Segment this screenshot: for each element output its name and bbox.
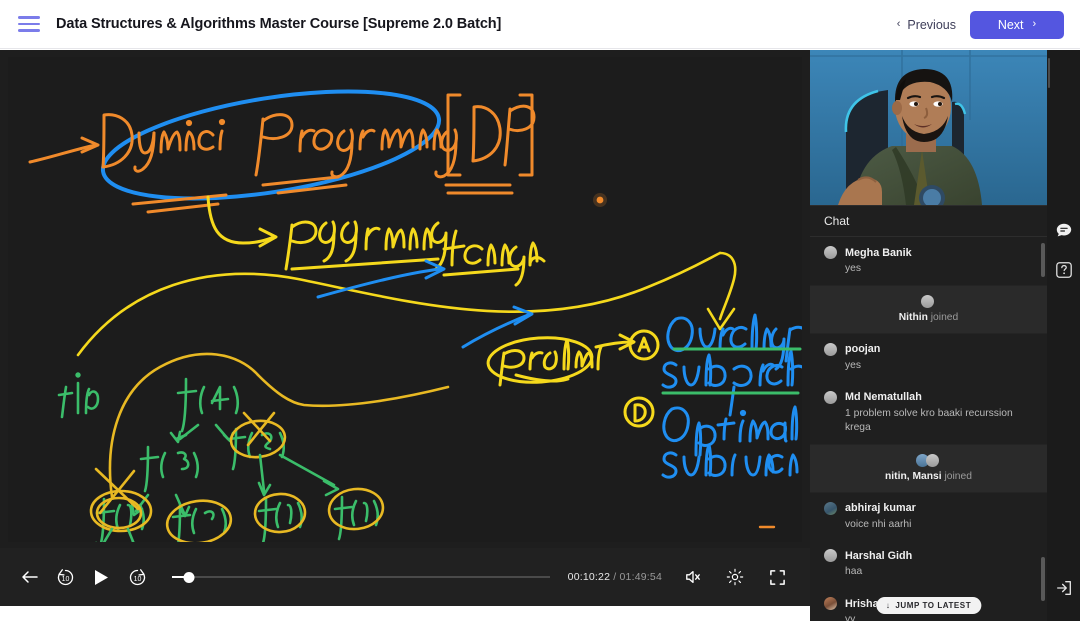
right-column: Chat Megha BanikyesNithin joinedpoojanye…	[810, 50, 1080, 621]
avatar	[824, 391, 837, 404]
join-notice-text: nitin, Mansi joined	[820, 471, 1037, 482]
volume-muted-icon[interactable]	[682, 566, 704, 588]
avatar	[824, 549, 837, 562]
app-header: Data Structures & Algorithms Master Cour…	[0, 0, 1080, 49]
forward-10-icon[interactable]: 10	[126, 566, 148, 588]
svg-text:10: 10	[61, 576, 69, 583]
avatar	[824, 597, 837, 610]
chat-message-author: abhiraj kumar	[845, 502, 916, 514]
time-separator: /	[613, 571, 616, 583]
chat-message-text: yy	[845, 613, 1033, 621]
avatar	[824, 246, 837, 259]
chat-message-text: voice nhi aarhi	[845, 518, 1033, 532]
chat-message-author: poojan	[845, 343, 880, 355]
join-avatars	[820, 295, 1037, 308]
current-time: 00:10:22	[568, 571, 610, 583]
playback-buttons: 10 10	[18, 566, 148, 588]
chat-message-author: Harshal Gidh	[845, 550, 912, 562]
chat-message-header: abhiraj kumar	[824, 502, 1033, 515]
seek-track	[172, 576, 550, 578]
chat-message-header: poojan	[824, 343, 1033, 356]
rewind-10-icon[interactable]: 10	[54, 566, 76, 588]
arrow-down-icon: ↓	[886, 601, 891, 610]
chat-message-text: haa	[845, 565, 1033, 579]
video-controls: 10 10 00	[0, 548, 810, 606]
avatar	[926, 454, 939, 467]
whiteboard-canvas	[8, 57, 802, 542]
previous-button-label: Previous	[907, 18, 956, 32]
gear-icon[interactable]	[724, 566, 746, 588]
chat-join-notice: Nithin joined	[810, 285, 1047, 334]
chat-message: Megha Banikyes	[810, 237, 1047, 285]
chat-message-text: 1 problem solve kro baaki recurssion kre…	[845, 407, 1033, 435]
chat-scrollbar[interactable]	[1041, 237, 1045, 621]
seek-handle[interactable]	[184, 572, 195, 583]
fullscreen-icon[interactable]	[766, 566, 788, 588]
chat-message: Md Nematullah1 problem solve kro baaki r…	[810, 382, 1047, 444]
chat-scrollbar-thumb-top[interactable]	[1041, 243, 1045, 277]
control-actions	[682, 566, 788, 588]
jump-to-latest-button[interactable]: ↓ JUMP TO LATEST	[876, 597, 981, 614]
chat-join-notice: nitin, Mansi joined	[810, 444, 1047, 493]
instructor-video-frame	[810, 50, 1047, 205]
chat-message-header: Megha Banik	[824, 246, 1033, 259]
chat-message-author: Md Nematullah	[845, 391, 922, 403]
page-title: Data Structures & Algorithms Master Cour…	[56, 16, 501, 32]
exit-door-icon[interactable]	[1055, 579, 1073, 597]
chevron-left-icon: ‹	[897, 19, 901, 30]
next-button[interactable]: Next ›	[970, 11, 1064, 39]
whiteboard-drawing	[8, 57, 802, 542]
hamburger-icon[interactable]	[18, 16, 40, 32]
chat-message-header: Harshal Gidh	[824, 549, 1033, 562]
chat-scrollbar-thumb[interactable]	[1041, 557, 1045, 601]
time-display: 00:10:22 / 01:49:54	[568, 571, 662, 583]
chat-bubble-icon[interactable]	[1055, 222, 1073, 240]
jump-to-latest-label: JUMP TO LATEST	[895, 601, 971, 610]
chat-message: Harshal Gidhhaa	[810, 540, 1047, 588]
chat-message-text: yes	[845, 262, 1033, 276]
chat-panel: Chat Megha BanikyesNithin joinedpoojanye…	[810, 205, 1047, 621]
chat-message-header: Md Nematullah	[824, 391, 1033, 404]
avatar	[824, 502, 837, 515]
instructor-video[interactable]	[810, 50, 1047, 205]
right-icon-rail	[1047, 50, 1080, 621]
chat-header: Chat	[810, 206, 1047, 237]
chat-message: abhiraj kumarvoice nhi aarhi	[810, 493, 1047, 541]
chat-message-author: Megha Banik	[845, 247, 912, 259]
header-actions: ‹ Previous Next ›	[897, 0, 1064, 49]
chevron-right-icon: ›	[1033, 19, 1037, 30]
seek-bar[interactable]	[172, 567, 550, 587]
join-avatars	[820, 454, 1037, 467]
join-notice-text: Nithin joined	[820, 312, 1037, 323]
video-stage[interactable]: 10 10 00	[0, 50, 810, 606]
previous-button[interactable]: ‹ Previous	[897, 18, 956, 32]
total-time: 01:49:54	[620, 571, 662, 583]
video-class-page: Data Structures & Algorithms Master Cour…	[0, 0, 1080, 621]
rail-divider	[1048, 58, 1050, 88]
play-icon[interactable]	[90, 566, 112, 588]
chat-message-list[interactable]: Megha BanikyesNithin joinedpoojanyesMd N…	[810, 237, 1047, 621]
arrow-left-icon[interactable]	[18, 566, 40, 588]
next-button-label: Next	[998, 18, 1024, 32]
question-mark-icon[interactable]	[1055, 261, 1073, 279]
chat-message: poojanyes	[810, 334, 1047, 382]
avatar	[824, 343, 837, 356]
avatar	[921, 295, 934, 308]
svg-text:10: 10	[133, 576, 141, 583]
chat-message-text: yes	[845, 359, 1033, 373]
